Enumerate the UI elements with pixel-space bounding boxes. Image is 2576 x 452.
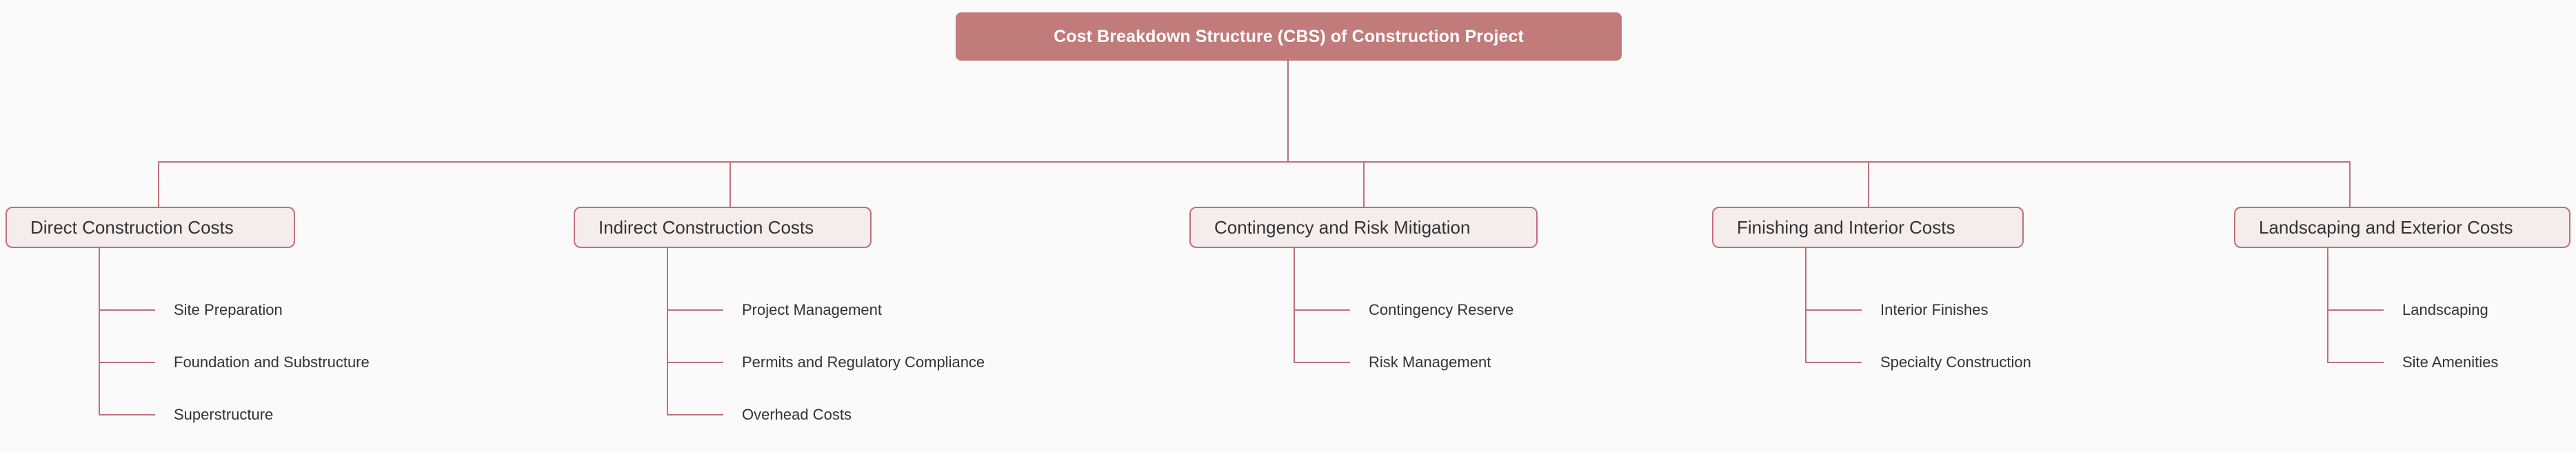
bus-connector [158, 161, 2351, 163]
leaf-stub-3-2 [1294, 362, 1350, 363]
leaf-stub-1-3 [99, 414, 155, 415]
root-drop-connector [1287, 61, 1289, 162]
category-node-label: Indirect Construction Costs [598, 217, 814, 238]
branch-drop-connector-3 [1363, 161, 1365, 207]
leaf-stub-4-2 [1805, 362, 1862, 363]
category-node-label: Direct Construction Costs [30, 217, 234, 238]
leaf-label-project-management[interactable]: Project Management [742, 301, 882, 319]
leaf-label-foundation-and-substructure[interactable]: Foundation and Substructure [174, 353, 370, 371]
leaf-label-permits-and-regulatory-compliance[interactable]: Permits and Regulatory Compliance [742, 353, 985, 371]
leaf-spine-3 [1294, 248, 1295, 362]
branch-drop-connector-4 [1868, 161, 1869, 207]
leaf-stub-1-2 [99, 362, 155, 363]
cbs-tree-diagram: Cost Breakdown Structure (CBS) of Constr… [0, 0, 2576, 452]
leaf-spine-1 [99, 248, 100, 415]
category-node-finishing-and-interior-costs[interactable]: Finishing and Interior Costs [1712, 207, 2024, 248]
category-node-direct-construction-costs[interactable]: Direct Construction Costs [6, 207, 295, 248]
root-node[interactable]: Cost Breakdown Structure (CBS) of Constr… [956, 12, 1622, 61]
branch-drop-connector-1 [158, 161, 159, 207]
leaf-label-contingency-reserve[interactable]: Contingency Reserve [1369, 301, 1513, 319]
category-node-label: Contingency and Risk Mitigation [1214, 217, 1470, 238]
leaf-stub-5-1 [2327, 309, 2384, 311]
leaf-stub-4-1 [1805, 309, 1862, 311]
category-node-label: Finishing and Interior Costs [1737, 217, 1955, 238]
category-node-label: Landscaping and Exterior Costs [2259, 217, 2513, 238]
leaf-label-overhead-costs[interactable]: Overhead Costs [742, 406, 852, 424]
leaf-label-landscaping[interactable]: Landscaping [2402, 301, 2488, 319]
leaf-label-specialty-construction[interactable]: Specialty Construction [1880, 353, 2031, 371]
leaf-stub-3-1 [1294, 309, 1350, 311]
branch-drop-connector-2 [729, 161, 731, 207]
leaf-label-risk-management[interactable]: Risk Management [1369, 353, 1491, 371]
leaf-stub-5-2 [2327, 362, 2384, 363]
leaf-spine-5 [2327, 248, 2328, 362]
leaf-label-site-amenities[interactable]: Site Amenities [2402, 353, 2498, 371]
root-node-label: Cost Breakdown Structure (CBS) of Constr… [1054, 27, 1524, 47]
branch-drop-connector-5 [2349, 161, 2351, 207]
leaf-stub-2-3 [667, 414, 723, 415]
leaf-label-superstructure[interactable]: Superstructure [174, 406, 273, 424]
leaf-stub-2-1 [667, 309, 723, 311]
category-node-landscaping-and-exterior-costs[interactable]: Landscaping and Exterior Costs [2234, 207, 2570, 248]
leaf-stub-1-1 [99, 309, 155, 311]
leaf-stub-2-2 [667, 362, 723, 363]
category-node-contingency-and-risk-mitigation[interactable]: Contingency and Risk Mitigation [1189, 207, 1538, 248]
leaf-spine-2 [667, 248, 668, 415]
leaf-label-interior-finishes[interactable]: Interior Finishes [1880, 301, 1989, 319]
leaf-spine-4 [1805, 248, 1807, 362]
leaf-label-site-preparation[interactable]: Site Preparation [174, 301, 283, 319]
category-node-indirect-construction-costs[interactable]: Indirect Construction Costs [574, 207, 872, 248]
